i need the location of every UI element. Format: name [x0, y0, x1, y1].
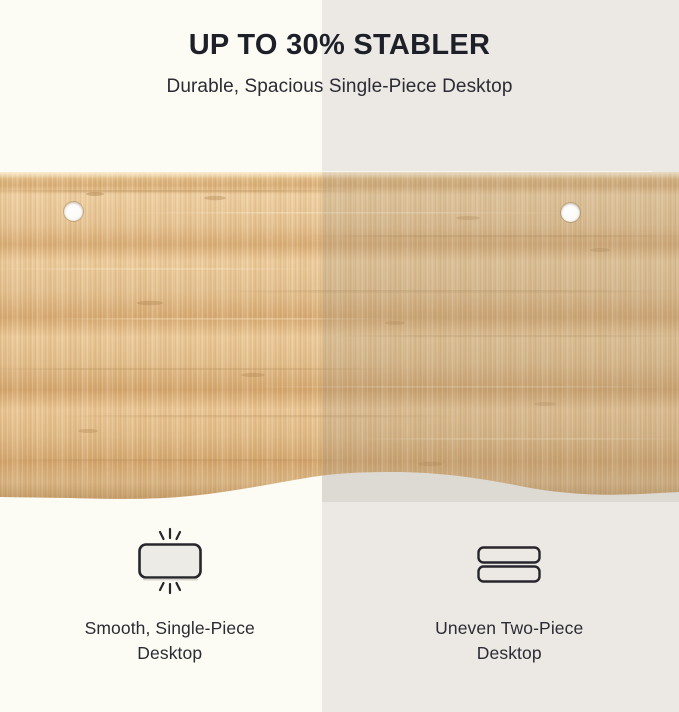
feature-comparison-row: Smooth, Single-Piece Desktop Uneven Two-…	[0, 502, 679, 712]
bamboo-desktop-photo	[0, 172, 679, 502]
two-piece-stacked-panels-icon	[463, 524, 555, 602]
wood-texture-group	[0, 172, 679, 502]
comparison-infographic: UP TO 30% STABLER Durable, Spacious Sing…	[0, 0, 679, 712]
sparkle-panel-glyph	[124, 526, 216, 600]
cable-grommet-left	[64, 202, 83, 221]
desktop-board-shape	[0, 172, 679, 502]
desktop-board-svg	[0, 172, 679, 502]
feature-label-single-piece: Smooth, Single-Piece Desktop	[85, 616, 255, 667]
cable-grommet-right	[561, 203, 580, 222]
stacked-panels-glyph	[463, 526, 555, 600]
feature-single-piece: Smooth, Single-Piece Desktop	[0, 502, 340, 712]
feature-label-two-piece: Uneven Two-Piece Desktop	[435, 616, 583, 667]
single-piece-desktop-sparkle-icon	[124, 524, 216, 602]
feature-two-piece: Uneven Two-Piece Desktop	[340, 502, 679, 712]
